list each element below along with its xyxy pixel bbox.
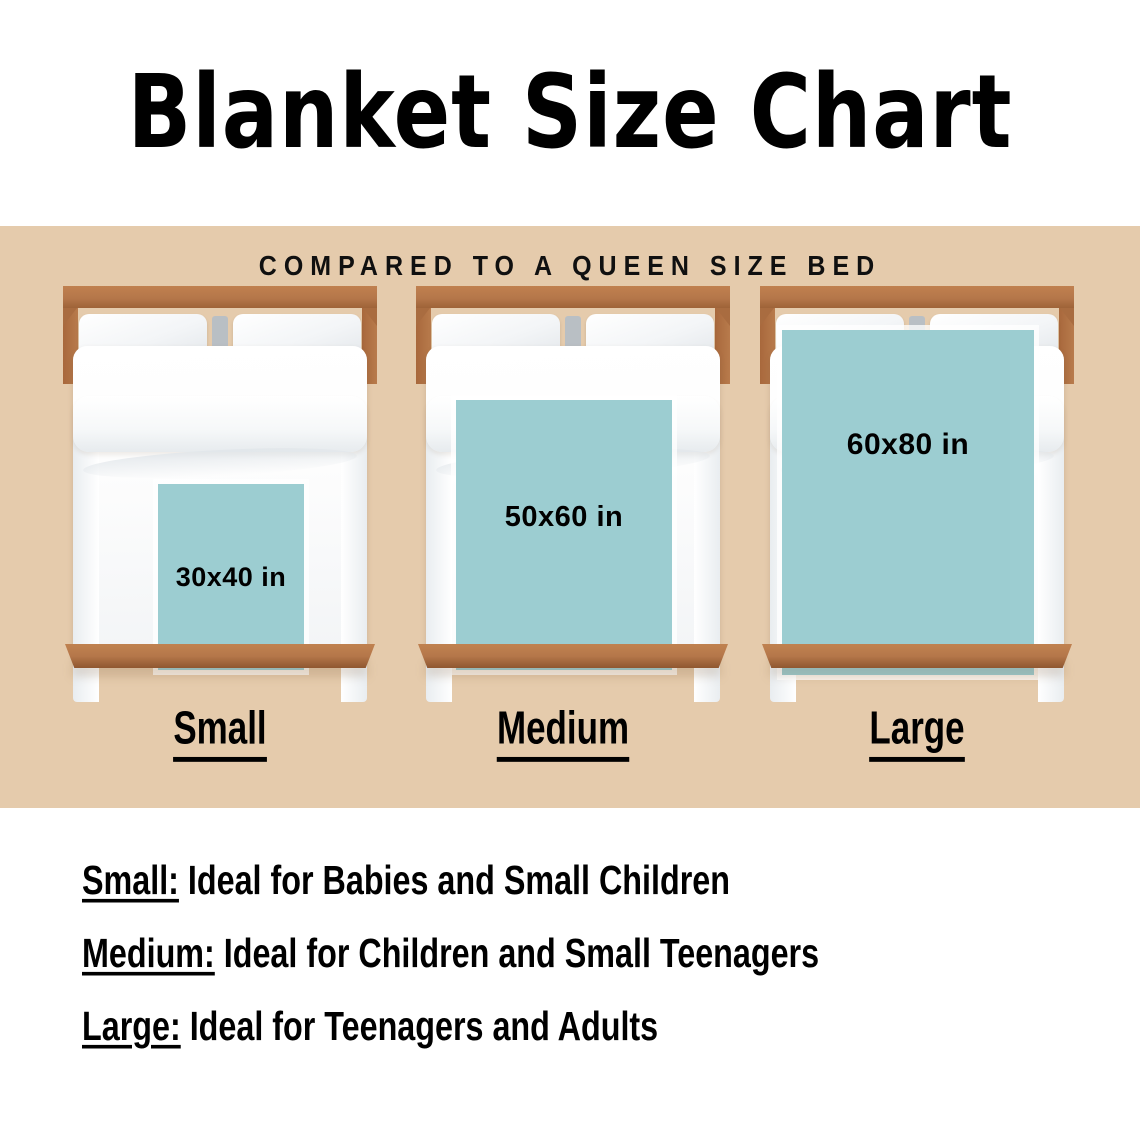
size-captions: Small Medium Large — [0, 708, 1140, 778]
blanket-swatch-medium: 50x60 in — [456, 400, 672, 670]
blanket-swatch-small: 30x40 in — [158, 484, 304, 670]
mattress-area: 60x80 in — [770, 300, 1064, 662]
description-row-large: Large: Ideal for Teenagers and Adults — [82, 1004, 1032, 1051]
description-key-small: Small: — [82, 858, 179, 904]
bed-illustration-large: 60x80 in — [752, 286, 1082, 686]
description-list: Small: Ideal for Babies and Small Childr… — [82, 862, 1082, 1081]
bed-illustration-small: 30x40 in — [55, 286, 385, 686]
page-title: Blanket Size Chart — [128, 62, 1013, 163]
description-text-small: Ideal for Babies and Small Children — [179, 858, 730, 904]
title-section: Blanket Size Chart — [0, 0, 1140, 226]
comparison-panel: COMPARED TO A QUEEN SIZE BED 30x40 in — [0, 226, 1140, 808]
size-caption-medium: Medium — [411, 703, 715, 755]
bed-illustration-medium: 50x60 in — [408, 286, 738, 686]
size-caption-small-label: Small — [173, 703, 266, 762]
size-caption-large-label: Large — [869, 703, 964, 762]
footboard-rail — [762, 644, 1072, 668]
size-caption-medium-label: Medium — [497, 703, 629, 762]
duvet-fold — [73, 396, 367, 452]
mattress-area: 50x60 in — [426, 300, 720, 662]
size-caption-large: Large — [765, 703, 1069, 755]
size-caption-small: Small — [68, 703, 372, 755]
footboard-rail — [418, 644, 728, 668]
mattress-area: 30x40 in — [73, 300, 367, 662]
description-row-small: Small: Ideal for Babies and Small Childr… — [82, 858, 1032, 905]
blanket-size-label: 50x60 in — [505, 501, 623, 534]
footboard-rail — [65, 644, 375, 668]
description-text-medium: Ideal for Children and Small Teenagers — [215, 931, 819, 977]
description-text-large: Ideal for Teenagers and Adults — [181, 1004, 658, 1050]
description-key-large: Large: — [82, 1004, 181, 1050]
beds-row: 30x40 in 50x60 in — [0, 286, 1140, 686]
description-key-medium: Medium: — [82, 931, 215, 977]
blanket-size-label: 60x80 in — [847, 428, 969, 462]
blanket-size-label: 30x40 in — [176, 562, 287, 593]
panel-subtitle: COMPARED TO A QUEEN SIZE BED — [0, 250, 1140, 282]
blanket-swatch-large: 60x80 in — [782, 330, 1034, 675]
description-row-medium: Medium: Ideal for Children and Small Tee… — [82, 931, 1032, 978]
